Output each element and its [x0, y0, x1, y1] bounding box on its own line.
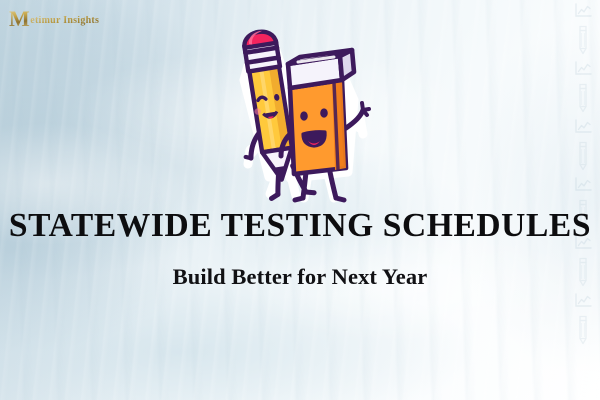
- pencil-eraser-top: [242, 29, 276, 47]
- page-title: STATEWIDE TESTING SCHEDULES: [0, 208, 600, 243]
- page-subtitle: Build Better for Next Year: [0, 265, 600, 290]
- logo-monogram-m: M: [9, 8, 30, 30]
- headline-block: STATEWIDE TESTING SCHEDULES Build Better…: [0, 208, 600, 290]
- banner-canvas: M etimur Insights: [0, 0, 600, 400]
- brand-logo: M etimur Insights: [9, 8, 99, 30]
- eraser-left-leg: [303, 172, 306, 198]
- eraser-eye-right: [320, 108, 328, 117]
- pencil-and-eraser-illustration: [222, 22, 374, 204]
- eraser-eye-left: [300, 111, 308, 120]
- logo-wordmark: etimur Insights: [30, 16, 99, 26]
